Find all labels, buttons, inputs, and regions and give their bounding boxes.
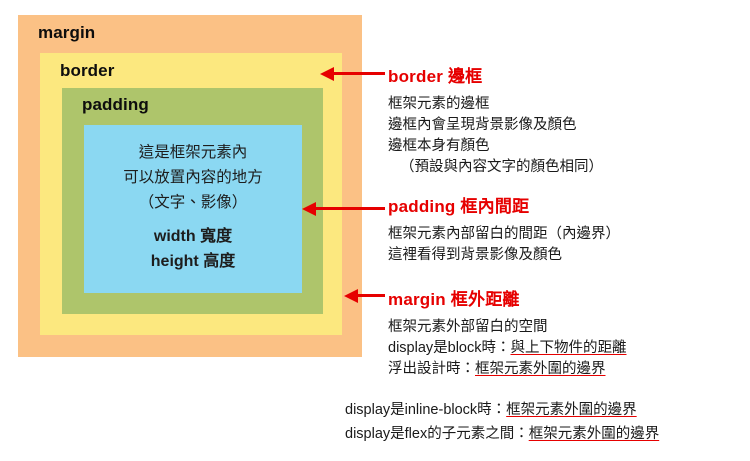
border-annotation-line-3: 邊框本身有顏色 [388,136,603,157]
margin-box: margin border padding 這是框架元素內 可以放置內容的地方 … [18,15,362,357]
border-box: border padding 這是框架元素內 可以放置內容的地方 （文字、影像）… [40,53,342,335]
footer-line-1: display是inline-block時：框架元素外圍的邊界 [345,398,659,422]
box-model-diagram-canvas: margin border padding 這是框架元素內 可以放置內容的地方 … [0,0,750,461]
content-box: 這是框架元素內 可以放置內容的地方 （文字、影像） width 寬度 heigh… [84,125,302,293]
padding-box: padding 這是框架元素內 可以放置內容的地方 （文字、影像） width … [62,88,323,314]
content-line-2: 可以放置內容的地方 [123,169,263,186]
padding-annotation-line-1: 框架元素內部留白的間距（內邊界） [388,224,620,245]
padding-annotation: padding 框內間距 框架元素內部留白的間距（內邊界） 這裡看得到背景影像及… [388,192,620,266]
footer-line-1-underline: 框架元素外圍的邊界 [506,402,637,418]
padding-annotation-body: 框架元素內部留白的間距（內邊界） 這裡看得到背景影像及顏色 [388,224,620,266]
margin-annotation-line-3: 浮出設計時：框架元素外圍的邊界 [388,359,627,380]
margin-box-label: margin [38,23,95,43]
border-annotation-body: 框架元素的邊框 邊框內會呈現背景影像及顏色 邊框本身有顏色 （預設與內容文字的顏… [388,94,603,178]
footer-line-2-underline: 框架元素外圍的邊界 [529,426,660,442]
margin-annotation-line-2-underline: 與上下物件的距離 [511,340,627,356]
padding-annotation-title: padding 框內間距 [388,192,620,217]
margin-annotation-line-2: display是block時：與上下物件的距離 [388,338,627,359]
padding-annotation-line-2: 這裡看得到背景影像及顏色 [388,245,620,266]
margin-annotation-line-3-prefix: 浮出設計時： [388,361,475,377]
margin-annotation-line-2-prefix: display是block時： [388,340,511,356]
border-annotation-line-1: 框架元素的邊框 [388,94,603,115]
border-annotation-line-4: （預設與內容文字的顏色相同） [388,157,603,178]
border-annotation: border 邊框 框架元素的邊框 邊框內會呈現背景影像及顏色 邊框本身有顏色 … [388,62,603,178]
margin-annotation-line-3-underline: 框架元素外圍的邊界 [475,361,606,377]
footer-annotation: display是inline-block時：框架元素外圍的邊界 display是… [345,398,659,446]
border-annotation-title: border 邊框 [388,62,603,87]
content-text-spacer [84,215,302,224]
margin-annotation-title: margin 框外距離 [388,285,627,310]
margin-annotation-body: 框架元素外部留白的空間 display是block時：與上下物件的距離 浮出設計… [388,317,627,380]
footer-line-1-prefix: display是inline-block時： [345,402,506,418]
margin-annotation: margin 框外距離 框架元素外部留白的空間 display是block時：與… [388,285,627,380]
margin-pointer-arrow-icon [357,294,385,297]
border-box-label: border [60,61,114,81]
padding-box-label: padding [82,95,149,115]
margin-annotation-line-1: 框架元素外部留白的空間 [388,317,627,338]
content-width-label: width 寬度 [154,228,232,245]
footer-line-2: display是flex的子元素之間：框架元素外圍的邊界 [345,422,659,446]
border-annotation-line-2: 邊框內會呈現背景影像及顏色 [388,115,603,136]
content-box-text: 這是框架元素內 可以放置內容的地方 （文字、影像） width 寬度 heigh… [84,140,302,274]
content-height-label: height 高度 [151,253,235,270]
border-pointer-arrow-icon [333,72,385,75]
content-line-3: （文字、影像） [139,194,248,211]
footer-line-2-prefix: display是flex的子元素之間： [345,426,529,442]
padding-pointer-arrow-icon [315,207,385,210]
content-line-1: 這是框架元素內 [139,144,248,161]
